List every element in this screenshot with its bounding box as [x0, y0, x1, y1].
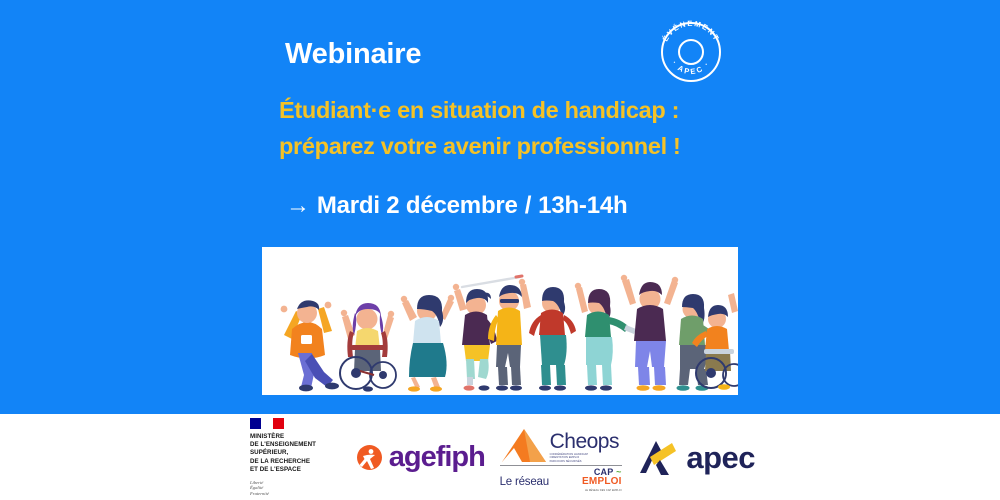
- svg-text:· APEC ·: · APEC ·: [670, 59, 712, 76]
- event-banner: ÉVÉNEMENT · APEC · Webinaire Étudiant·e …: [0, 0, 1000, 414]
- logo-ministere-enseignement-superieur: MINISTÈRE DE L'ENSEIGNEMENT SUPÉRIEUR, D…: [250, 418, 342, 497]
- cheops-tagline: Le réseau: [500, 476, 549, 488]
- apec-a-mark-icon: [636, 437, 678, 477]
- logo-cheops-cap-emploi: Cheops CONFÉDÉRATION HANDICAPORIENTATION…: [500, 429, 622, 485]
- cap-emploi-lockup: CAP ~ EMPLOI LE RÉSEAU DES CAP EMPLOI: [582, 468, 622, 495]
- page-title-line-1: Étudiant·e en situation de handicap :: [279, 92, 739, 128]
- ministere-line-5: ET DE L'ESPACE: [250, 466, 342, 474]
- cheops-wordmark: Cheops: [550, 432, 619, 452]
- page-title: Étudiant·e en situation de handicap : pr…: [279, 92, 739, 164]
- cheops-divider: [500, 465, 622, 466]
- partner-logo-footer: MINISTÈRE DE L'ENSEIGNEMENT SUPÉRIEUR, D…: [0, 414, 1000, 500]
- event-date: Mardi 2 décembre: [317, 192, 518, 219]
- event-date-time: →Mardi 2 décembre/13h-14h: [286, 192, 627, 220]
- cheops-pyramid-icon: [500, 429, 548, 463]
- cheops-microtext: CONFÉDÉRATION HANDICAPORIENTATION EMPLOI…: [550, 453, 606, 463]
- logo-strip: MINISTÈRE DE L'ENSEIGNEMENT SUPÉRIEUR, D…: [250, 414, 755, 500]
- agefiph-figure-icon: [357, 445, 382, 470]
- agefiph-wordmark: agefiph: [389, 443, 485, 472]
- french-flag-icon: [250, 418, 284, 429]
- ministere-line-3: SUPÉRIEUR,: [250, 449, 342, 457]
- logo-apec: apec: [636, 437, 755, 477]
- page-title-line-2: préparez votre avenir professionnel !: [279, 128, 739, 164]
- people-celebrating-illustration: [262, 247, 738, 395]
- cap-emploi-microtext: LE RÉSEAU DES CAP EMPLOI: [582, 486, 622, 495]
- motto-fraternite: Fraternité: [250, 491, 342, 497]
- evenement-apec-badge-icon: ÉVÉNEMENT · APEC ·: [655, 16, 727, 88]
- ministere-title: MINISTÈRE DE L'ENSEIGNEMENT SUPÉRIEUR, D…: [250, 433, 342, 475]
- republic-motto: Liberté Égalité Fraternité: [250, 480, 342, 497]
- ministere-line-1: MINISTÈRE: [250, 433, 342, 441]
- ministere-line-4: DE LA RECHERCHE: [250, 458, 342, 466]
- event-time: 13h-14h: [538, 192, 627, 219]
- logo-agefiph: agefiph: [357, 443, 485, 472]
- arrow-right-icon: →: [286, 192, 310, 219]
- illustration-panel: [262, 247, 738, 395]
- cap-emploi-emploi: EMPLOI: [582, 477, 622, 486]
- date-time-separator: /: [525, 192, 531, 219]
- apec-wordmark: apec: [686, 442, 755, 473]
- kicker-webinaire: Webinaire: [285, 38, 421, 71]
